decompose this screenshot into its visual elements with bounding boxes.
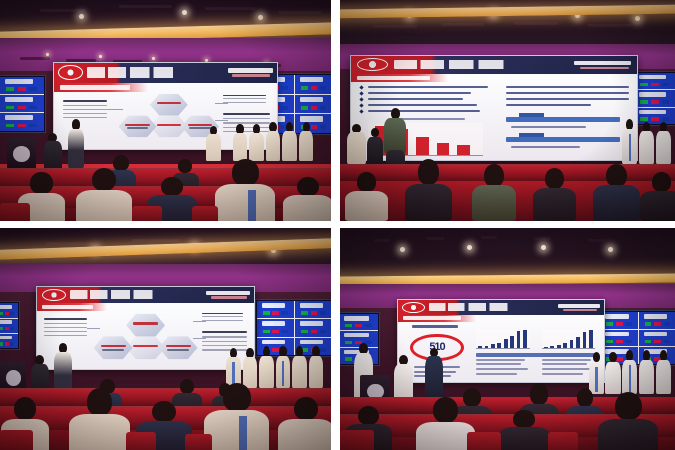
mini-bar-chart-left	[476, 329, 529, 349]
audience-member	[209, 383, 265, 450]
mini-bar-chart-right	[542, 329, 595, 349]
hikvision-logo	[574, 61, 631, 66]
panel-member	[638, 350, 655, 394]
panel-member	[298, 122, 315, 162]
presenter-seated	[394, 355, 414, 402]
panel-member	[621, 119, 638, 163]
presenter-speaking	[424, 348, 444, 401]
presenter-speaking	[53, 343, 73, 392]
presenter-seated	[43, 133, 63, 173]
hex-cost-leadership	[94, 336, 133, 360]
panel-member	[225, 348, 242, 388]
callout-blue-ocean	[202, 313, 243, 323]
left-monitor-wall	[0, 301, 20, 350]
audience-member	[642, 172, 675, 221]
hikvision-logo-sub	[232, 74, 270, 77]
left-monitor-wall	[0, 75, 46, 132]
chart-title-label	[412, 325, 457, 328]
callout-cost-leadership	[44, 318, 87, 338]
collage-photo-top-right	[340, 0, 675, 221]
panel-member	[638, 122, 655, 164]
panel-member	[205, 126, 222, 161]
presenter-speaking	[384, 108, 407, 170]
panel-member	[258, 346, 275, 388]
audience-member	[534, 168, 574, 221]
slide-section-label	[37, 303, 106, 310]
panel-member	[367, 128, 384, 163]
hikvision-logo-sub	[580, 67, 629, 69]
hikvision-logo	[558, 304, 599, 308]
panel-member	[308, 346, 325, 388]
panel-member	[291, 346, 308, 388]
audience-member	[601, 392, 655, 450]
panel-member	[281, 122, 298, 162]
audience-member	[595, 164, 639, 221]
audience-member	[420, 397, 470, 450]
panel-member	[655, 350, 672, 394]
audience-member	[79, 168, 129, 221]
slide-header	[351, 56, 637, 74]
presenter-speaking	[66, 119, 86, 168]
panel-member	[248, 124, 265, 162]
school-emblem-icon	[357, 58, 388, 71]
hikvision-logo-sub	[211, 296, 248, 298]
slide-header-title	[429, 303, 548, 311]
auditorium-room: 510	[340, 228, 675, 450]
collage-photo-bottom-left	[0, 228, 331, 450]
share-bar-hikvision	[506, 117, 620, 122]
audience-member	[218, 159, 271, 221]
school-emblem-icon	[58, 65, 83, 80]
hex-blue-ocean	[126, 313, 165, 337]
slide-section-label	[351, 74, 448, 82]
panel-member	[265, 122, 282, 162]
auditorium-room	[0, 0, 331, 221]
audience-member	[501, 410, 548, 450]
hikvision-logo	[228, 68, 273, 73]
callout-blue-ocean	[223, 95, 265, 106]
audience-member	[73, 388, 126, 450]
panel-member	[621, 350, 638, 394]
audience-member	[281, 397, 331, 450]
auditorium-room	[340, 0, 675, 221]
collage-photo-bottom-right: 510	[340, 228, 675, 450]
panel-member	[605, 352, 622, 394]
panel-member	[347, 124, 367, 164]
slide-section-label	[54, 83, 148, 93]
audience-member	[407, 159, 451, 221]
slide-header-title	[87, 67, 216, 77]
hex-differentiation	[159, 336, 198, 360]
slide-header	[37, 287, 253, 303]
share-bar-xiaomi	[506, 137, 620, 142]
audience-member	[474, 164, 514, 221]
ceiling	[340, 228, 675, 277]
slide-header-title	[70, 290, 196, 299]
collage-photo-top-left	[0, 0, 331, 221]
slide-header-title	[394, 60, 560, 69]
panel-member	[242, 348, 259, 388]
panel-member	[275, 346, 292, 388]
school-emblem-icon	[42, 289, 66, 301]
hikvision-logo-sub	[563, 309, 598, 311]
audience-member	[285, 177, 331, 221]
hikvision-logo	[206, 291, 249, 295]
audience-member	[347, 172, 387, 221]
auditorium-room	[0, 228, 331, 450]
school-emblem-icon	[402, 302, 425, 313]
slide-header	[398, 300, 604, 315]
slide-section-label	[398, 315, 476, 322]
hex-blue-ocean	[150, 93, 188, 116]
panel-member	[655, 122, 672, 164]
photo-collage: 510	[0, 0, 675, 450]
panel-member	[232, 124, 249, 162]
callout-cost-leadership	[63, 100, 108, 119]
slide-header	[54, 63, 277, 83]
hex-cost-leadership	[119, 115, 157, 138]
